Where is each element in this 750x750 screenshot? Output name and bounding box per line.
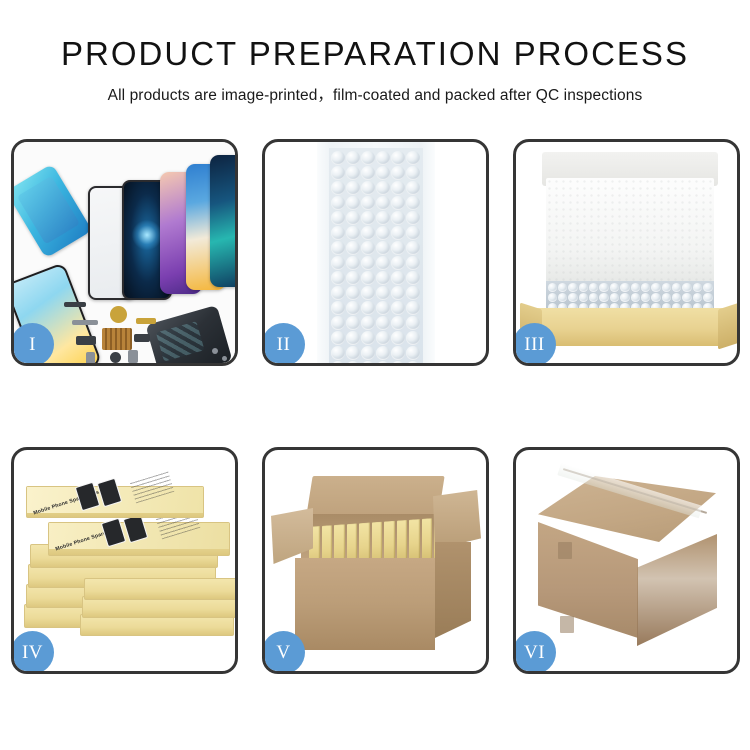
part-logicboard-graphic <box>102 328 132 350</box>
process-step-grid: I II III <box>11 139 739 674</box>
phone-teal-screen-graphic <box>210 155 235 287</box>
part-antenna-graphic <box>64 302 86 307</box>
part-flexcable-graphic <box>136 318 156 324</box>
step-badge-1: I <box>11 323 54 366</box>
step-badge-3: III <box>513 323 556 366</box>
process-step-panel-5: V <box>262 447 489 674</box>
foam-liner-graphic <box>546 178 714 282</box>
part-bracket-graphic <box>72 320 98 325</box>
process-step-panel-3: III <box>513 139 740 366</box>
step-badge-4: IV <box>11 631 54 674</box>
page-header: PRODUCT PREPARATION PROCESS All products… <box>0 0 750 105</box>
process-step-panel-2: II <box>262 139 489 366</box>
page-subtitle: All products are image-printed，film-coat… <box>0 83 750 105</box>
part-simtray-graphic <box>86 352 95 363</box>
step-badge-5: V <box>262 631 305 674</box>
part-camera-graphic <box>76 336 96 345</box>
bubble-wrap-sheet <box>329 148 423 363</box>
page-title: PRODUCT PREPARATION PROCESS <box>0 36 750 72</box>
process-step-panel-1: I <box>11 139 238 366</box>
step-badge-6: VI <box>513 631 556 674</box>
process-step-panel-4: Mobile Phone Spare Parts Mobile Phone Sp… <box>11 447 238 674</box>
bubble-wrapped-contents-graphic <box>546 281 714 311</box>
carton-label-patch-upper <box>558 542 572 559</box>
part-connector-graphic <box>134 334 150 342</box>
carton-front-panel-graphic <box>295 558 435 650</box>
carton-side-panel-graphic <box>435 542 471 638</box>
kraft-box-body-graphic <box>534 308 726 346</box>
carton-label-patch-lower <box>560 616 574 633</box>
step-badge-2: II <box>262 323 305 366</box>
process-step-panel-6: VI <box>513 447 740 674</box>
part-screw-graphic <box>212 348 218 354</box>
sealed-carton-front-graphic <box>538 522 638 638</box>
sealed-carton-side-graphic <box>637 534 717 646</box>
part-battery-graphic <box>128 350 138 363</box>
part-vibrator-graphic <box>110 352 121 363</box>
part-screw-small-graphic <box>222 356 227 361</box>
part-speaker-graphic <box>110 306 127 323</box>
